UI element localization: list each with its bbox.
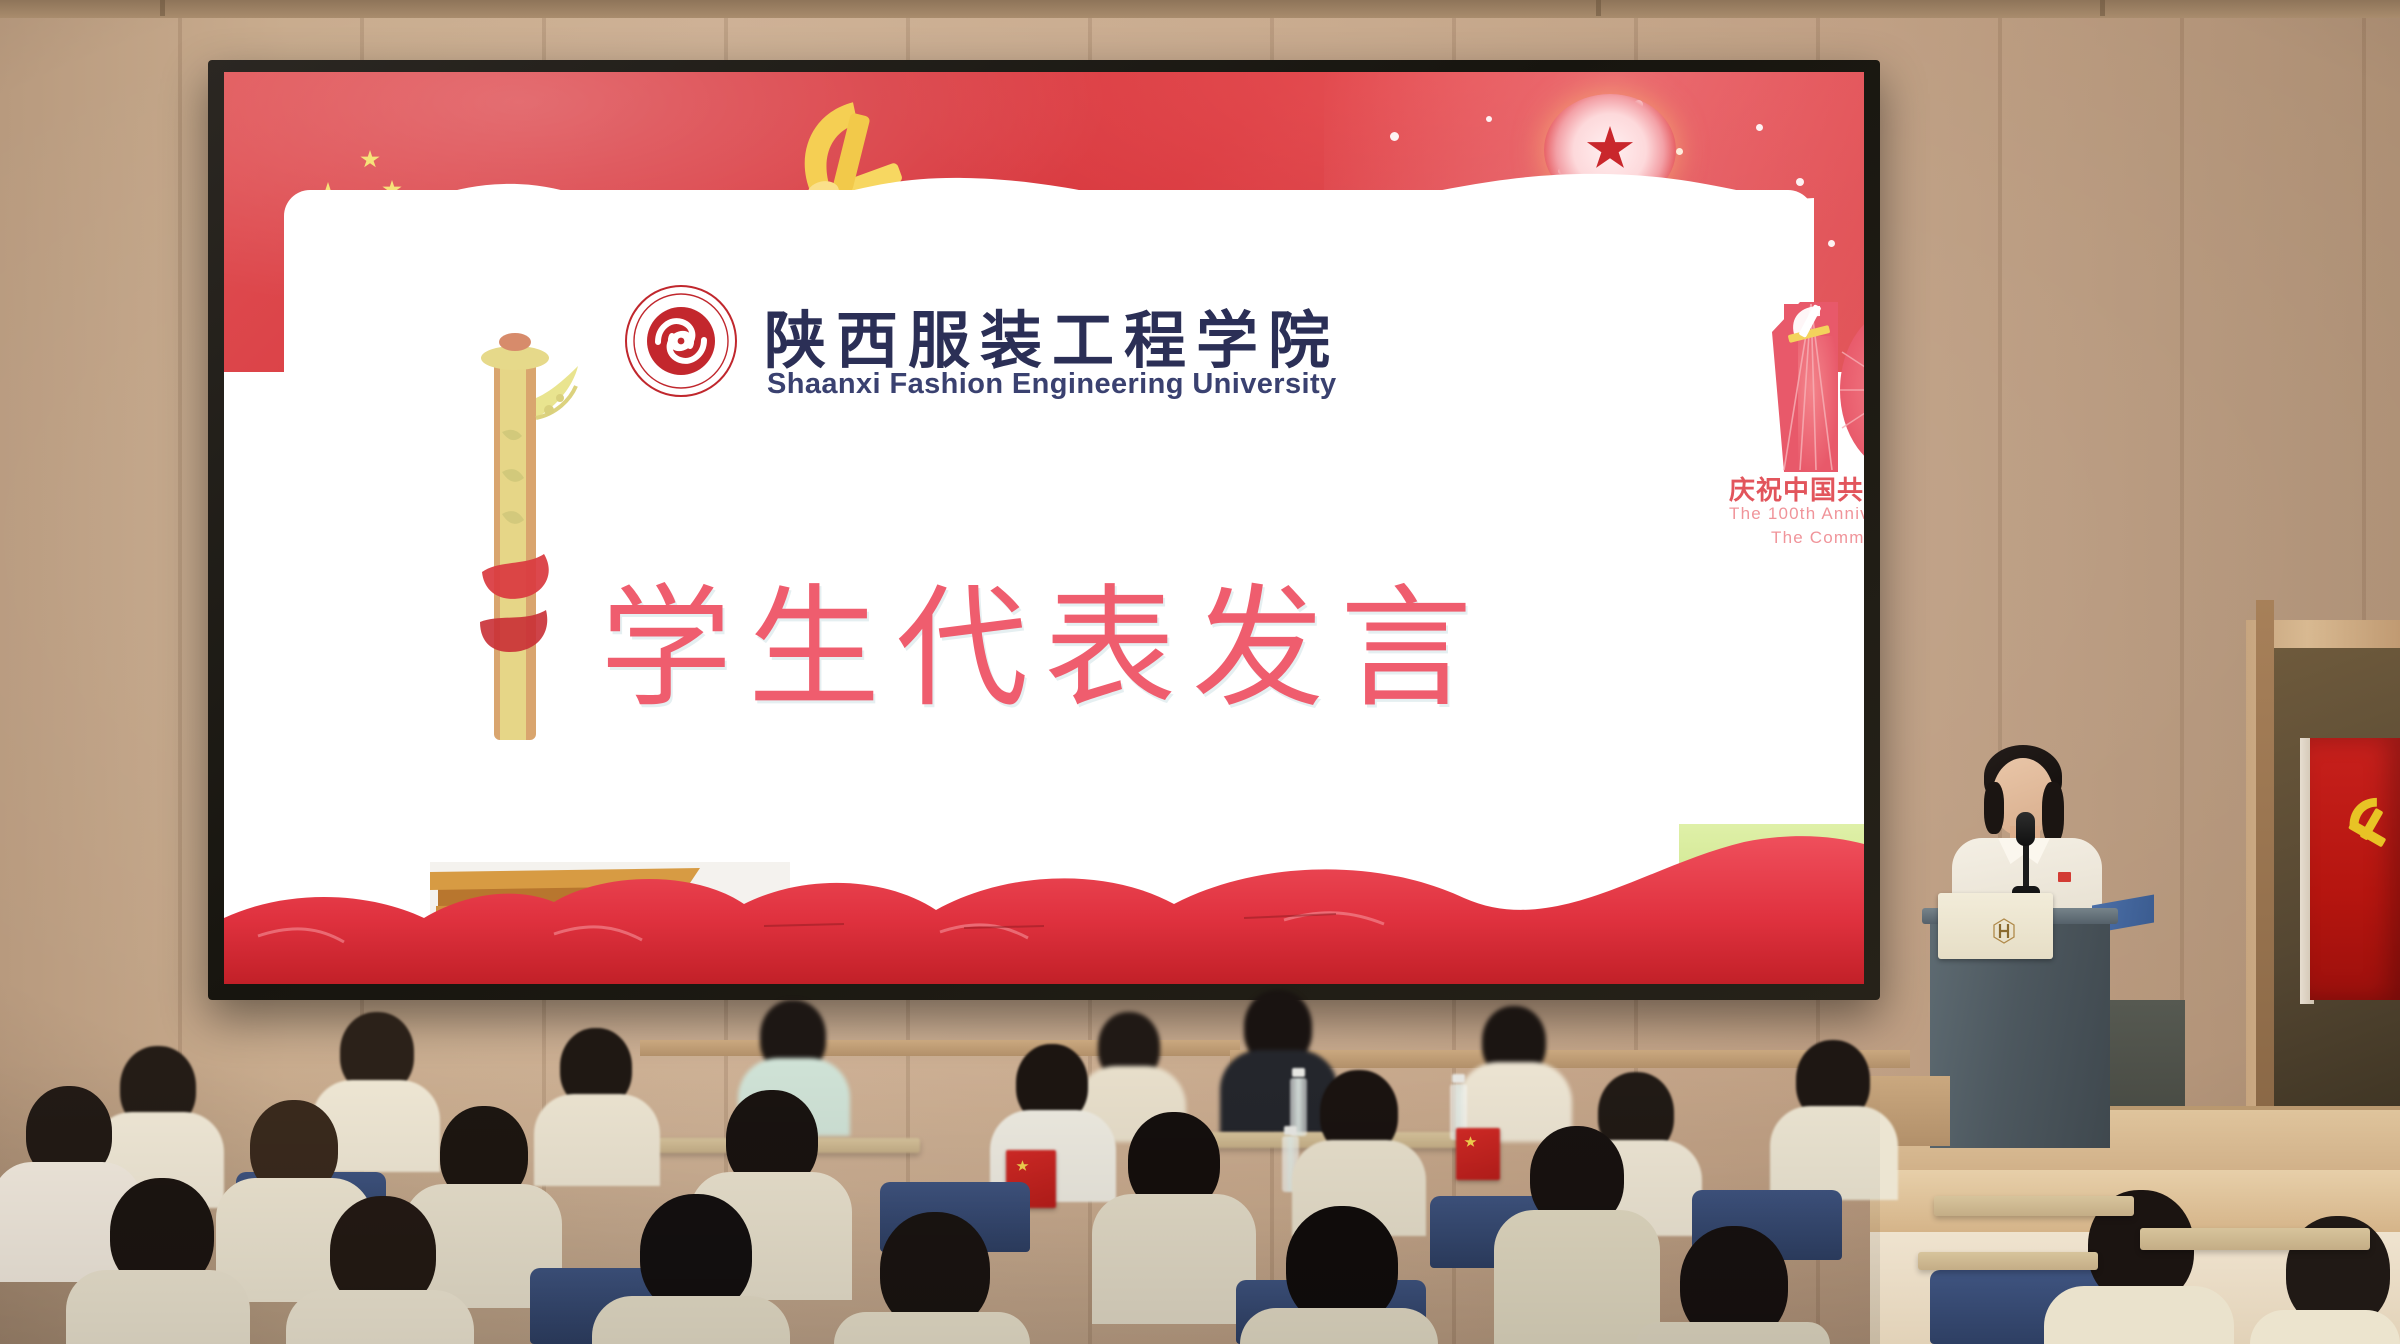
- audience-desk: [1934, 1196, 2134, 1216]
- ceiling-strip: [0, 0, 2400, 18]
- ceiling-mark: [160, 0, 165, 16]
- water-bottle-cap: [1452, 1074, 1465, 1083]
- red-silk-waves: [224, 832, 1864, 984]
- microphone-head: [2016, 812, 2035, 846]
- speaker-hair-right-strand: [2042, 782, 2064, 844]
- water-bottle-cap: [1284, 1126, 1297, 1135]
- school-monogram-logo-icon: [1988, 915, 2020, 947]
- audience-desk: [2140, 1228, 2370, 1250]
- university-logo-icon: [624, 284, 738, 398]
- sparkle-dot: [1390, 132, 1399, 141]
- party-pin-badge: [2058, 872, 2071, 882]
- auditorium-scene: 陕西服装工程学院 Shaanxi Fashion Engineering Uni…: [0, 0, 2400, 1344]
- ceiling-mark: [2100, 0, 2105, 16]
- sparkle-dot: [1828, 240, 1835, 247]
- anniversary-caption-cn: 庆祝中国共产党成立100周年: [1729, 470, 1864, 507]
- hammer-sickle-icon: [2344, 790, 2400, 856]
- sparkle-dot: [1756, 124, 1763, 131]
- sparkle-dot: [1486, 116, 1492, 122]
- speaker-hair-left-strand: [1984, 782, 2004, 834]
- water-bottle-cap: [1292, 1068, 1305, 1077]
- red-booklet: [1456, 1128, 1500, 1180]
- audience-desk: [1918, 1252, 2098, 1270]
- communist-party-flag: [2310, 738, 2400, 1000]
- projection-screen: 陕西服装工程学院 Shaanxi Fashion Engineering Uni…: [224, 72, 1864, 984]
- huabiao-column-icon: [452, 322, 582, 742]
- university-name-en: Shaanxi Fashion Engineering University: [767, 368, 1337, 401]
- ceiling-mark: [1596, 0, 1601, 16]
- anniversary-caption-en-line1: The 100th Anniversary of the Founding of: [1729, 504, 1864, 524]
- university-name-cn: 陕西服装工程学院: [764, 290, 1340, 380]
- sparkle-dot: [1676, 148, 1683, 155]
- door-side-panel: [2256, 600, 2274, 1120]
